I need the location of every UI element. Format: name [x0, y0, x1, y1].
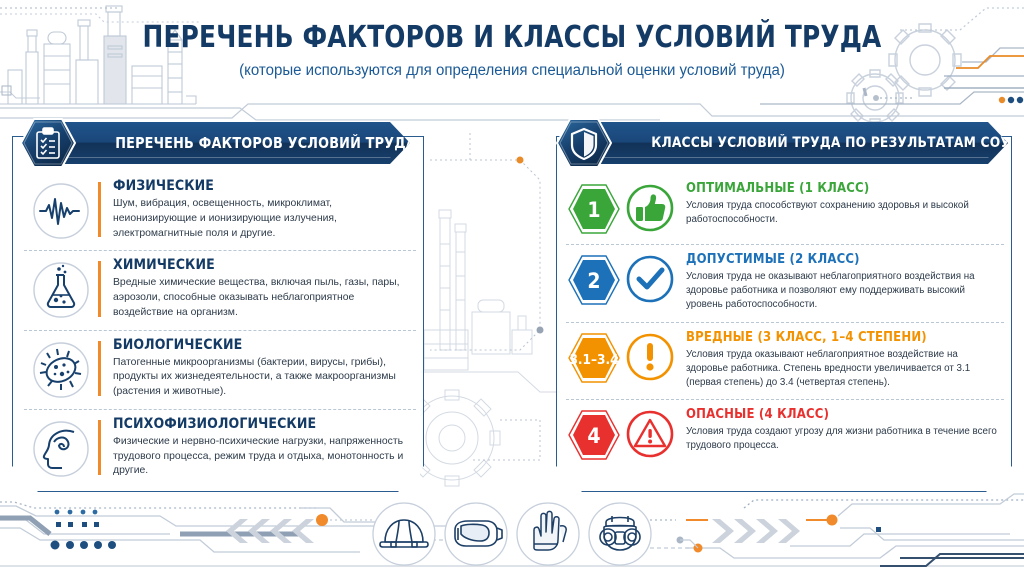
chevron-arrows-right — [712, 519, 800, 543]
factor-title: БИОЛОГИЧЕСКИЕ — [113, 337, 412, 353]
class-badge-number: 4 — [587, 424, 600, 448]
shield-icon — [556, 118, 612, 168]
ppe-icon-row — [370, 500, 670, 570]
exclamation-circle-icon — [622, 330, 678, 382]
accent-bar — [98, 182, 101, 237]
accent-bar — [98, 341, 101, 396]
factor-desc: Патогенные микроорганизмы (бактерии, вир… — [113, 356, 412, 400]
bacteria-icon — [24, 337, 98, 399]
page-title-block: ПЕРЕЧЕНЬ ФАКТОРОВ И КЛАССЫ УСЛОВИЙ ТРУДА… — [0, 22, 1024, 80]
class-title: ОПТИМАЛЬНЫЕ (1 КЛАСС) — [686, 181, 998, 196]
class-badge-number: 3.1–3.4 — [569, 352, 618, 368]
class-row: 3.1–3.4 ВРЕДНЫЕ (3 КЛАСС, 1–4 СТЕПЕНИ) У… — [566, 323, 1004, 401]
class-badge-2: 2 — [566, 252, 622, 306]
classes-header-banner: КЛАССЫ УСЛОВИЙ ТРУДА ПО РЕЗУЛЬТАТАМ СОУТ — [598, 122, 1008, 164]
industrial-plant-silhouette-center — [404, 210, 560, 486]
accent-bar — [98, 420, 101, 475]
class-title: ОПАСНЫЕ (4 КЛАСС) — [686, 407, 998, 422]
circuit-dots-small-left — [55, 510, 98, 515]
classes-panel-header: КЛАССЫ УСЛОВИЙ ТРУДА ПО РЕЗУЛЬТАТАМ СОУТ — [556, 118, 1008, 168]
factor-title: ХИМИЧЕСКИЕ — [113, 257, 412, 273]
class-row: 1 ОПТИМАЛЬНЫЕ (1 КЛАСС) Условия труда сп… — [566, 174, 1004, 245]
factors-list: ФИЗИЧЕСКИЕ Шум, вибрация, освещенность, … — [24, 172, 416, 488]
class-row: 2 ДОПУСТИМЫЕ (2 КЛАСС) Условия труда не … — [566, 245, 1004, 323]
class-desc: Условия труда не оказывают неблагоприятн… — [686, 270, 998, 313]
class-badge-1: 1 — [566, 181, 622, 235]
chevron-arrows-left — [226, 519, 314, 543]
class-title: ДОПУСТИМЫЕ (2 КЛАСС) — [686, 252, 998, 267]
class-desc: Условия труда оказывают неблагоприятное … — [686, 348, 998, 391]
hard-hat-icon — [373, 503, 435, 565]
respirator-mask-icon — [589, 503, 651, 565]
clipboard-checklist-icon — [20, 118, 76, 168]
factors-header-banner: ПЕРЕЧЕНЬ ФАКТОРОВ УСЛОВИЙ ТРУДА — [62, 122, 410, 164]
circuit-dots-left — [51, 522, 117, 550]
page-title: ПЕРЕЧЕНЬ ФАКТОРОВ И КЛАССЫ УСЛОВИЙ ТРУДА — [41, 22, 983, 54]
work-gloves-icon — [517, 503, 579, 565]
class-badge-number: 2 — [587, 269, 600, 293]
factor-title: ФИЗИЧЕСКИЕ — [113, 178, 412, 194]
waveform-icon — [24, 178, 98, 240]
factor-row: ФИЗИЧЕСКИЕ Шум, вибрация, освещенность, … — [24, 172, 416, 251]
class-title: ВРЕДНЫЕ (3 КЛАСС, 1–4 СТЕПЕНИ) — [686, 330, 998, 345]
factor-row: БИОЛОГИЧЕСКИЕ Патогенные микроорганизмы … — [24, 331, 416, 410]
class-badge-number: 1 — [587, 198, 600, 222]
factor-title: ПСИХОФИЗИОЛОГИЧЕСКИЕ — [113, 416, 412, 432]
circuit-dot-right — [876, 527, 881, 532]
class-badge-3: 3.1–3.4 — [566, 330, 622, 384]
factors-header-label: ПЕРЕЧЕНЬ ФАКТОРОВ УСЛОВИЙ ТРУДА — [62, 134, 416, 152]
flask-icon — [24, 257, 98, 319]
classes-list: 1 ОПТИМАЛЬНЫЕ (1 КЛАСС) Условия труда сп… — [566, 174, 1004, 470]
factor-row: ХИМИЧЕСКИЕ Вредные химические вещества, … — [24, 251, 416, 330]
class-badge-4: 4 — [566, 407, 622, 461]
classes-header-label: КЛАССЫ УСЛОВИЙ ТРУДА ПО РЕЗУЛЬТАТАМ СОУТ — [598, 135, 1019, 151]
circuit-trace-lines-center — [430, 130, 544, 460]
factor-row: ПСИХОФИЗИОЛОГИЧЕСКИЕ Физические и нервно… — [24, 410, 416, 488]
class-desc: Условия труда создают угрозу для жизни р… — [686, 425, 998, 453]
safety-goggles-icon — [445, 503, 507, 565]
accent-bar — [98, 261, 101, 316]
class-row: 4 ОПАСНЫЕ (4 КЛАСС) Условия труда создаю… — [566, 400, 1004, 470]
class-desc: Условия труда способствуют сохранению зд… — [686, 199, 998, 227]
warning-triangle-icon — [622, 407, 678, 459]
factors-panel-header: ПЕРЕЧЕНЬ ФАКТОРОВ УСЛОВИЙ ТРУДА — [20, 118, 410, 168]
factor-desc: Вредные химические вещества, включая пыл… — [113, 276, 412, 320]
thumbs-up-icon — [622, 181, 678, 233]
page-subtitle: (которые используются для определения сп… — [15, 62, 1008, 80]
head-brain-icon — [24, 416, 98, 478]
factor-desc: Физические и нервно-психические нагрузки… — [113, 435, 412, 479]
checkmark-icon — [622, 252, 678, 304]
infographic-canvas: ПЕРЕЧЕНЬ ФАКТОРОВ И КЛАССЫ УСЛОВИЙ ТРУДА… — [0, 0, 1024, 576]
orange-node-left — [316, 514, 328, 526]
orange-node-right-a — [827, 515, 838, 526]
factor-desc: Шум, вибрация, освещенность, микроклимат… — [113, 197, 412, 241]
